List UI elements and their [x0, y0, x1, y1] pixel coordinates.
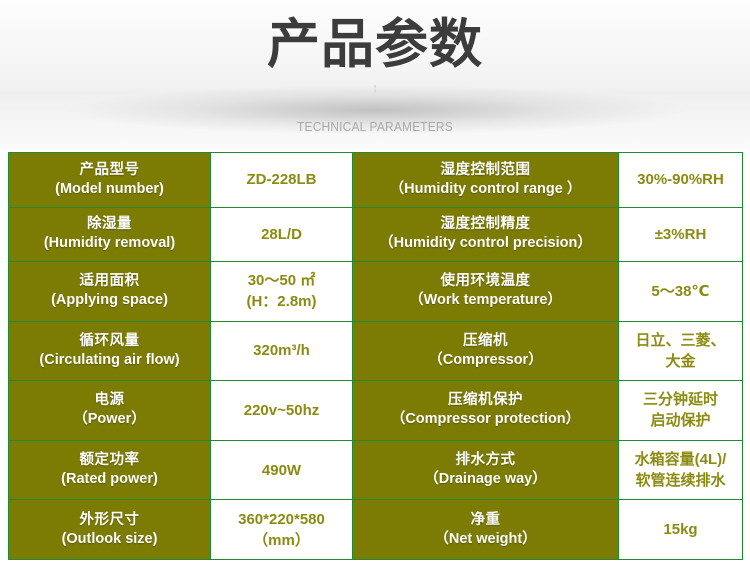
spec-label-en: （Compressor protection）	[356, 410, 615, 429]
page-title: 产品参数	[0, 14, 750, 76]
spec-table-container: 产品型号 (Model number) ZD-228LB 湿度控制范围 （Hum…	[8, 152, 742, 560]
spec-label-zh: 产品型号	[12, 161, 207, 180]
spec-value-cell: ZD-228LB	[211, 153, 353, 208]
spec-value-line1: 水箱容量(4L)/	[622, 449, 739, 470]
spec-label-cell: 电源 （Power）	[9, 381, 211, 441]
spec-label-zh: 排水方式	[356, 451, 615, 470]
table-row: 循环风量 (Circulating air flow) 320m³/h 压缩机 …	[9, 321, 743, 381]
spec-label-en: （Net weight）	[356, 530, 615, 549]
table-row: 额定功率 (Rated power) 490W 排水方式 （Drainage w…	[9, 440, 743, 500]
spec-value-line1: ZD-228LB	[214, 169, 349, 190]
page-header: 产品参数 ¦ TECHNICAL PARAMETERS	[0, 0, 750, 150]
spec-value-line1: 360*220*580	[214, 509, 349, 530]
spec-label-en: (Circulating air flow)	[12, 351, 207, 370]
spec-label-en: (Humidity removal)	[12, 234, 207, 253]
spec-label-cell: 额定功率 (Rated power)	[9, 440, 211, 500]
spec-label-zh: 净重	[356, 511, 615, 530]
page-subtitle: TECHNICAL PARAMETERS	[30, 119, 720, 135]
spec-label-en: （Work temperature）	[356, 291, 615, 310]
spec-value-line1: 三分钟延时	[622, 389, 739, 410]
spec-value-line1: 5～38℃	[622, 281, 739, 302]
spec-label-cell: 使用环境温度 （Work temperature）	[353, 262, 619, 322]
spec-label-cell: 产品型号 (Model number)	[9, 153, 211, 208]
spec-label-cell: 排水方式 （Drainage way）	[353, 440, 619, 500]
spec-label-zh: 湿度控制范围	[356, 161, 615, 180]
spec-value-cell: 水箱容量(4L)/ 软管连续排水	[619, 440, 743, 500]
spec-value-cell: 220v~50hz	[211, 381, 353, 441]
spec-label-en: （Humidity control precision）	[356, 234, 615, 253]
spec-value-line2: 启动保护	[622, 410, 739, 431]
table-row: 适用面积 (Applying space) 30～50 ㎡ (H：2.8m) 使…	[9, 262, 743, 322]
spec-label-zh: 电源	[12, 391, 207, 410]
table-row: 外形尺寸 (Outlook size) 360*220*580 （mm） 净重 …	[9, 500, 743, 560]
spec-label-cell: 净重 （Net weight）	[353, 500, 619, 560]
spec-value-line2: 软管连续排水	[622, 470, 739, 491]
spec-value-line1: 320m³/h	[214, 340, 349, 361]
spec-label-en: （Power）	[12, 410, 207, 429]
spec-label-cell: 循环风量 (Circulating air flow)	[9, 321, 211, 381]
spec-value-line2: 大金	[622, 351, 739, 372]
spec-label-cell: 外形尺寸 (Outlook size)	[9, 500, 211, 560]
spec-label-cell: 压缩机保护 （Compressor protection）	[353, 381, 619, 441]
spec-label-en: （Drainage way）	[356, 470, 615, 489]
spec-value-cell: 三分钟延时 启动保护	[619, 381, 743, 441]
spec-label-en: (Outlook size)	[12, 530, 207, 549]
spec-label-zh: 适用面积	[12, 272, 207, 291]
spec-label-zh: 压缩机	[356, 332, 615, 351]
spec-value-cell: ±3%RH	[619, 207, 743, 262]
table-row: 电源 （Power） 220v~50hz 压缩机保护 （Compressor p…	[9, 381, 743, 441]
spec-label-cell: 压缩机 （Compressor）	[353, 321, 619, 381]
spec-label-zh: 除湿量	[12, 215, 207, 234]
spec-value-cell: 15kg	[619, 500, 743, 560]
spec-label-cell: 湿度控制精度 （Humidity control precision）	[353, 207, 619, 262]
spec-value-line1: 30%-90%RH	[622, 169, 739, 190]
spec-label-en: （Compressor）	[356, 351, 615, 370]
spec-value-cell: 360*220*580 （mm）	[211, 500, 353, 560]
spec-label-zh: 额定功率	[12, 451, 207, 470]
spec-value-line1: 15kg	[622, 519, 739, 540]
spec-label-en: (Rated power)	[12, 470, 207, 489]
spec-value-cell: 320m³/h	[211, 321, 353, 381]
spec-label-cell: 除湿量 (Humidity removal)	[9, 207, 211, 262]
spec-value-line1: 220v~50hz	[214, 400, 349, 421]
spec-value-cell: 30～50 ㎡ (H：2.8m)	[211, 262, 353, 322]
spec-label-zh: 压缩机保护	[356, 391, 615, 410]
spec-label-zh: 外形尺寸	[12, 511, 207, 530]
spec-label-en: (Applying space)	[12, 291, 207, 310]
spec-value-cell: 28L/D	[211, 207, 353, 262]
spec-value-cell: 30%-90%RH	[619, 153, 743, 208]
title-divider-mark: ¦	[0, 84, 750, 94]
spec-value-line1: ±3%RH	[622, 224, 739, 245]
spec-value-line1: 28L/D	[214, 224, 349, 245]
spec-value-cell: 日立、三菱、 大金	[619, 321, 743, 381]
spec-value-line2: (H：2.8m)	[214, 291, 349, 312]
table-row: 产品型号 (Model number) ZD-228LB 湿度控制范围 （Hum…	[9, 153, 743, 208]
spec-value-line1: 490W	[214, 460, 349, 481]
spec-label-zh: 湿度控制精度	[356, 215, 615, 234]
spec-label-en: (Model number)	[12, 180, 207, 199]
technical-parameters-table: 产品型号 (Model number) ZD-228LB 湿度控制范围 （Hum…	[8, 152, 743, 560]
spec-value-cell: 5～38℃	[619, 262, 743, 322]
table-row: 除湿量 (Humidity removal) 28L/D 湿度控制精度 （Hum…	[9, 207, 743, 262]
spec-label-en: （Humidity control range ）	[356, 180, 615, 199]
spec-label-cell: 湿度控制范围 （Humidity control range ）	[353, 153, 619, 208]
spec-value-line2: （mm）	[214, 530, 349, 551]
spec-label-zh: 循环风量	[12, 332, 207, 351]
spec-value-cell: 490W	[211, 440, 353, 500]
spec-value-line1: 日立、三菱、	[622, 330, 739, 351]
spec-value-line1: 30～50 ㎡	[214, 270, 349, 291]
spec-label-cell: 适用面积 (Applying space)	[9, 262, 211, 322]
spec-table-body: 产品型号 (Model number) ZD-228LB 湿度控制范围 （Hum…	[9, 153, 743, 560]
spec-label-zh: 使用环境温度	[356, 272, 615, 291]
